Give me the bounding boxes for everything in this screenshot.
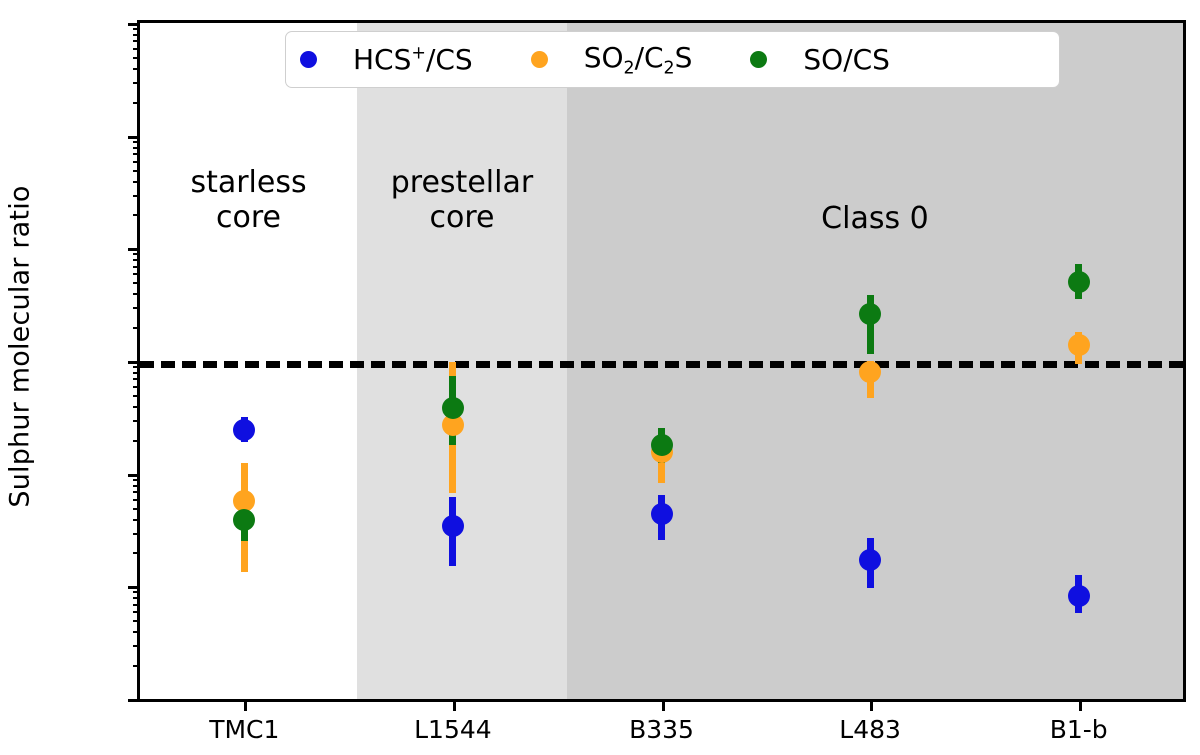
y-tick-minor: [133, 253, 140, 255]
y-tick-minor: [133, 307, 140, 309]
legend-label: HCS+/CS: [353, 43, 473, 76]
data-point-marker: [1068, 271, 1090, 293]
data-point-marker: [859, 361, 881, 383]
y-tick-minor: [133, 34, 140, 36]
y-tick-minor: [133, 386, 140, 388]
x-tick-label-b335: B335: [562, 715, 762, 744]
y-tick-minor: [133, 406, 140, 408]
y-tick-minor: [133, 631, 140, 633]
y-tick-minor: [133, 591, 140, 593]
legend-entry-2: SO/CS: [750, 43, 890, 76]
unity-reference-line: [140, 361, 1183, 368]
y-tick-minor: [133, 395, 140, 397]
y-tick-minor: [133, 153, 140, 155]
x-tick-label-l483: L483: [770, 715, 970, 744]
y-tick-major: [128, 136, 140, 139]
y-tick-minor: [133, 147, 140, 149]
y-tick-minor: [133, 491, 140, 493]
y-tick-minor: [133, 519, 140, 521]
y-tick-major: [128, 23, 140, 26]
plot-area: starless coreprestellar coreClass 0 1031…: [137, 20, 1186, 702]
y-tick-minor: [133, 282, 140, 284]
legend-swatch-icon: [750, 51, 767, 68]
x-tick: [870, 699, 873, 711]
y-tick-minor: [133, 620, 140, 622]
data-point-marker: [233, 419, 255, 441]
y-tick-minor: [133, 552, 140, 554]
y-tick-minor: [133, 82, 140, 84]
y-tick-minor: [133, 273, 140, 275]
y-tick-minor: [133, 533, 140, 535]
legend-swatch-icon: [300, 51, 317, 68]
y-tick-minor: [133, 372, 140, 374]
y-tick-minor: [133, 440, 140, 442]
data-point-marker: [233, 509, 255, 531]
y-tick-minor: [133, 57, 140, 59]
y-tick-major: [128, 361, 140, 364]
y-tick-minor: [133, 479, 140, 481]
y-tick-minor: [133, 327, 140, 329]
legend-swatch-icon: [531, 51, 548, 68]
y-tick-minor: [133, 665, 140, 667]
chart-legend: HCS+/CSSO2/C2SSO/CS: [285, 31, 1060, 88]
x-tick-label-b1-b: B1-b: [979, 715, 1179, 744]
y-tick-minor: [133, 40, 140, 42]
y-tick-minor: [133, 485, 140, 487]
y-tick-minor: [133, 611, 140, 613]
y-tick-minor: [133, 604, 140, 606]
y-tick-minor: [133, 420, 140, 422]
y-tick-minor: [133, 266, 140, 268]
y-tick-minor: [133, 597, 140, 599]
x-tick: [244, 699, 247, 711]
data-point-marker: [1068, 585, 1090, 607]
x-tick: [1079, 699, 1082, 711]
y-tick-major: [128, 699, 140, 702]
x-tick: [662, 699, 665, 711]
legend-entry-1: SO2/C2S: [531, 41, 693, 79]
y-tick-minor: [133, 170, 140, 172]
y-tick-minor: [133, 508, 140, 510]
legend-entry-0: HCS+/CS: [300, 43, 473, 76]
data-point-marker: [651, 434, 673, 456]
region-label-2: Class 0: [715, 201, 1035, 236]
chart-figure: Sulphur molecular ratio starless corepre…: [0, 0, 1200, 755]
y-tick-minor: [133, 293, 140, 295]
legend-label: SO/CS: [803, 43, 890, 76]
y-tick-major: [128, 586, 140, 589]
x-tick-label-l1544: L1544: [353, 715, 553, 744]
y-tick-minor: [133, 214, 140, 216]
y-tick-minor: [133, 161, 140, 163]
x-tick-label-tmc1: TMC1: [144, 715, 344, 744]
y-tick-major: [128, 248, 140, 251]
y-tick-minor: [133, 68, 140, 70]
legend-label: SO2/C2S: [584, 41, 693, 79]
y-tick-minor: [133, 195, 140, 197]
data-point-marker: [651, 503, 673, 525]
y-tick-minor: [133, 366, 140, 368]
x-tick: [453, 699, 456, 711]
y-tick-minor: [133, 141, 140, 143]
y-tick-minor: [133, 48, 140, 50]
y-axis-title: Sulphur molecular ratio: [5, 0, 36, 755]
y-tick-minor: [133, 181, 140, 183]
data-point-marker: [1068, 334, 1090, 356]
y-tick-minor: [133, 378, 140, 380]
y-tick-minor: [133, 28, 140, 30]
y-tick-minor: [133, 259, 140, 261]
region-label-1: prestellar core: [302, 165, 622, 235]
y-tick-minor: [133, 102, 140, 104]
y-tick-major: [128, 474, 140, 477]
y-tick-minor: [133, 499, 140, 501]
y-tick-minor: [133, 645, 140, 647]
